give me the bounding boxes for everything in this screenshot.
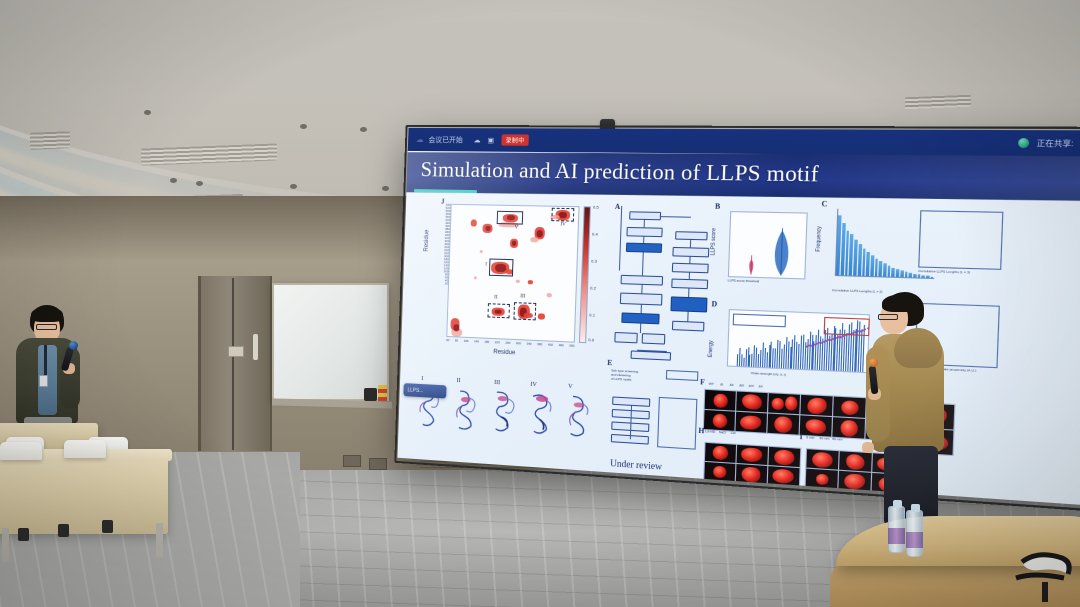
panel-label-i: I <box>799 433 802 442</box>
screenshot-root: ☁ 会议已开始 ☁ ▣ 录制中 正在共享: wukaihua ☰ Simulat… <box>0 0 1080 607</box>
spike-legend-box <box>733 313 786 327</box>
spike-ylabel: Energy <box>708 340 715 357</box>
lanyard <box>44 345 47 375</box>
structure-label-v: V <box>568 384 573 390</box>
roi-label-iii: III <box>520 294 525 299</box>
table-leg <box>156 523 163 557</box>
micrograph-cell <box>800 395 832 416</box>
protein-structure-iv <box>524 390 558 439</box>
wifi-icon: ☁ <box>416 135 425 144</box>
panel-label-f: F <box>700 378 705 387</box>
share-icon[interactable]: ☁ <box>474 136 483 144</box>
roi-box-iv <box>551 208 574 222</box>
chair[interactable] <box>64 440 106 458</box>
micrograph-cell <box>806 449 838 469</box>
door-sign <box>228 346 244 357</box>
panel-label-b: B <box>715 202 720 211</box>
panel-right-top: Cumulative LLPS Lengths (L = 3) <box>917 210 1008 290</box>
micrograph-i-caption: 0 min 30 min 60 min <box>806 435 842 441</box>
title-accent-bar <box>414 189 477 193</box>
bottle-label <box>888 528 905 544</box>
record-badge: 录制中 <box>501 134 528 145</box>
office-chair[interactable] <box>1014 548 1080 607</box>
cbar-tick: 0.0 <box>588 337 594 342</box>
door-seam <box>232 278 234 450</box>
roi-label-v: V <box>514 225 518 230</box>
micrograph-cell <box>735 412 767 433</box>
contact-map-ylabel: Residue <box>424 229 431 251</box>
micrograph-cell <box>768 393 800 414</box>
roi-label-iv: IV <box>560 222 566 227</box>
roi-label-i: I <box>485 262 487 267</box>
bar-ylabel: Frequency <box>815 226 823 252</box>
slide-tooltip[interactable]: LLPS... <box>403 383 446 398</box>
violin-ylabel: LLPS score <box>710 228 717 256</box>
bar <box>870 255 874 276</box>
hvac-grille <box>905 95 971 110</box>
micrograph-cell <box>768 447 800 467</box>
protein-structure-ii <box>449 386 482 434</box>
conference-table-front <box>0 452 168 534</box>
micrograph-cell <box>705 390 736 411</box>
hand-lower <box>862 442 874 453</box>
ceiling-spotlight <box>170 178 177 183</box>
protein-structure-v <box>561 392 596 441</box>
panel-label-c: C <box>821 200 827 209</box>
cbar-tick: 0.2 <box>590 285 596 290</box>
microphone-head <box>869 358 878 367</box>
bar <box>883 264 887 277</box>
bar <box>904 272 907 278</box>
hair-top <box>882 294 922 312</box>
bar <box>896 269 899 277</box>
contact-map-xlabel: Residue <box>493 349 515 356</box>
cbar-tick: 0.5 <box>593 204 599 209</box>
panel-label-h: H <box>698 427 704 436</box>
microphone-head <box>69 341 78 350</box>
roi-label-ii: II <box>494 295 498 300</box>
name-badge <box>39 375 48 387</box>
hvac-grille <box>30 131 70 150</box>
structure-label-iv: IV <box>530 382 537 388</box>
bar <box>874 259 878 277</box>
colorbar-tick-labels: 0.5 0.4 0.3 0.2 0.1 0.0 <box>588 202 610 348</box>
chair[interactable] <box>0 442 42 460</box>
table-leg <box>2 528 9 562</box>
roi-box-i <box>489 258 514 276</box>
micrograph-cell <box>736 464 767 484</box>
hood <box>894 328 942 368</box>
flow-e-box <box>666 370 699 381</box>
micrograph-cell <box>704 410 735 431</box>
whiteboard-markers[interactable] <box>378 385 387 401</box>
protein-structure-iii <box>486 388 520 437</box>
micrograph-cell <box>704 462 735 482</box>
screen-share-icon[interactable]: ▣ <box>487 136 496 144</box>
bar <box>892 268 895 277</box>
ceiling-spotlight <box>144 110 151 115</box>
door-handle[interactable] <box>253 334 258 360</box>
wall-outlet[interactable] <box>369 458 387 470</box>
cbar-tick: 0.3 <box>591 258 597 263</box>
micrograph-cell <box>767 414 799 435</box>
bar <box>879 261 883 276</box>
ceiling-spotlight <box>290 184 297 189</box>
ceiling-spotlight <box>196 181 203 186</box>
right-top-caption: Cumulative LLPS Lengths (L = 3) <box>918 270 1001 277</box>
panel-label-d: D <box>711 300 717 309</box>
structure-label-ii: II <box>456 378 460 384</box>
micrograph-h-caption: 1,6-HD NaCl Ctrl <box>705 429 736 435</box>
roi-box-ii <box>487 303 509 318</box>
flow-e-note: Sub-type screeningand clusteringof LLPS … <box>611 369 666 384</box>
whiteboard <box>272 283 389 401</box>
glasses <box>878 314 898 320</box>
hair-fringe <box>31 307 63 322</box>
panel-label-a: A <box>615 203 621 211</box>
roi-box-v <box>497 211 524 225</box>
panel-flowchart-e: E Sub-type screeningand clusteringof LLP… <box>604 363 701 469</box>
user-avatar[interactable] <box>1018 138 1029 148</box>
bar <box>887 266 891 277</box>
panel-violin-b: B LLPS score LLPS score threshold <box>710 207 815 302</box>
cbar-tick: 0.4 <box>592 231 598 236</box>
door[interactable] <box>198 276 272 451</box>
table-caster <box>58 524 69 537</box>
ceiling-spotlight <box>360 127 367 132</box>
toolbar-center-group: ☁ ▣ 录制中 <box>468 134 1013 149</box>
structure-label-i: I <box>421 376 423 382</box>
micrograph-cell <box>736 445 767 465</box>
micrograph-cell <box>736 392 768 413</box>
ceiling-spotlight <box>382 186 389 191</box>
bar <box>909 272 912 277</box>
toolbar-right-group: 正在共享: wukaihua ☰ <box>1018 137 1080 149</box>
toolbar-left-group: ☁ 会议已开始 <box>416 134 463 144</box>
panel-spikes-d: D Energy Chain strength (x/γ, k, t) <box>707 304 877 393</box>
sharing-label: 正在共享: <box>1037 137 1074 149</box>
violin-plot-frame <box>728 211 808 279</box>
panel-contact-map: J Residue 540520500480460440420400380360… <box>422 199 597 380</box>
table-caster <box>18 528 29 541</box>
meeting-status-label: 会议已开始 <box>428 135 463 145</box>
right-top-frame <box>918 210 1003 270</box>
structure-label-iii: III <box>494 380 500 386</box>
bar <box>913 274 916 278</box>
micrograph-cell <box>806 469 838 490</box>
micrograph-cell <box>705 443 736 463</box>
wall-outlet[interactable] <box>343 455 361 467</box>
bottle-label <box>906 532 923 548</box>
spike-xlabel: Chain strength (x/γ, k, t) <box>751 372 852 381</box>
roi-box-iii <box>513 302 536 320</box>
table-caster <box>102 520 113 533</box>
whiteboard-eraser[interactable] <box>364 388 377 401</box>
glasses <box>36 324 57 330</box>
bar <box>900 270 903 277</box>
contact-map-plot: V IV I II III <box>446 204 579 343</box>
flow-e-panel <box>657 397 697 450</box>
ceiling-spotlight <box>300 124 307 129</box>
micrograph-cell <box>800 415 832 436</box>
micrograph-cell <box>768 466 800 486</box>
cbar-tick: 0.1 <box>589 312 595 317</box>
panel-label-e: E <box>607 359 612 368</box>
slide-footer: Under review <box>610 458 662 472</box>
